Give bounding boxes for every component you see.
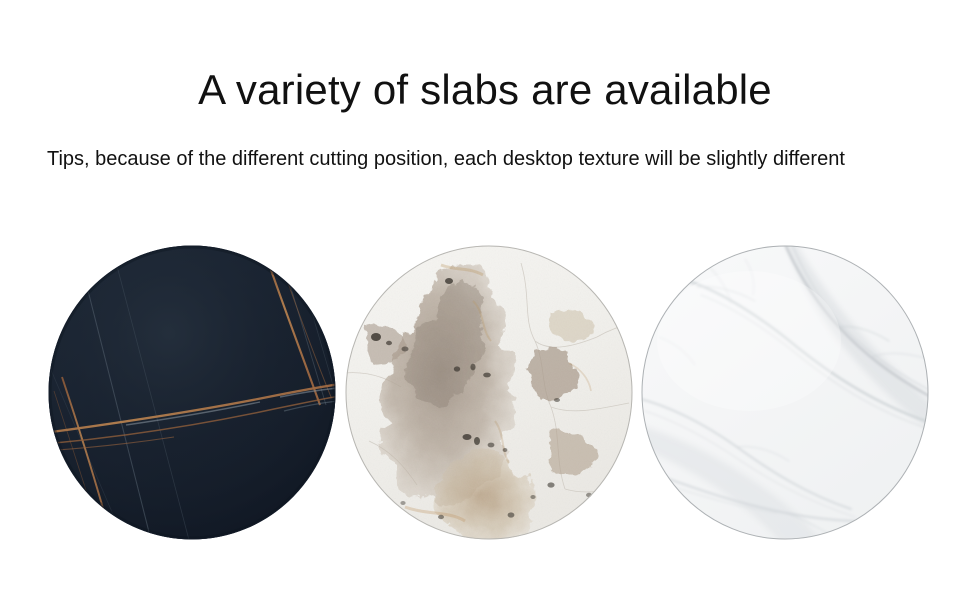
slab-swatch-brown-marble[interactable]: [345, 245, 633, 540]
slab-swatch-white-marble[interactable]: [641, 245, 929, 540]
slab-options-panel: A variety of slabs are available Tips, b…: [0, 0, 970, 600]
slab-1-alt-text: Round dark navy sintered stone sample wi…: [0, 0, 1, 1]
slab-3-alt-text: Round white carrara style marble sample …: [0, 0, 1, 1]
slab-white-marble-image: [641, 245, 929, 540]
page-title: A variety of slabs are available: [0, 69, 970, 111]
page-subtitle: Tips, because of the different cutting p…: [47, 142, 932, 176]
slab-2-alt-text: Round cream marble sample with large irr…: [0, 0, 1, 1]
slab-brown-marble-image: [345, 245, 633, 540]
slab-dark-navy-image: [48, 245, 336, 540]
slab-swatch-dark-navy[interactable]: [48, 245, 336, 540]
slab-swatch-row: [0, 245, 970, 541]
